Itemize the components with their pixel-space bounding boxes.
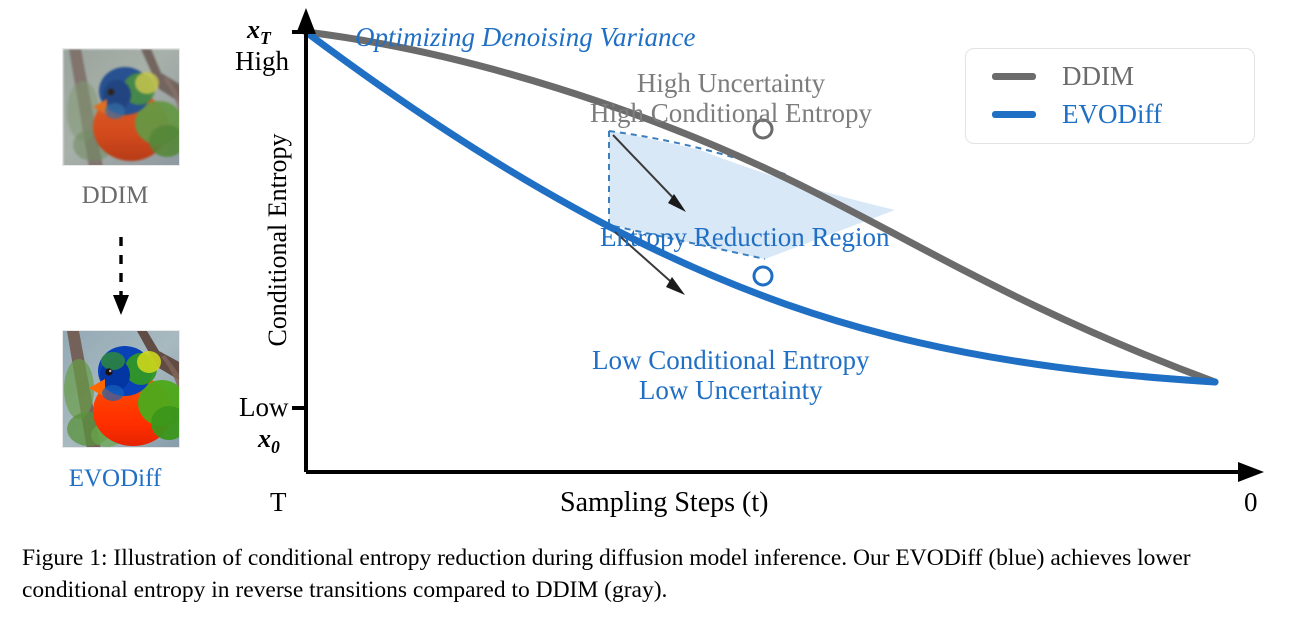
x-axis-arrowhead [1238,462,1264,482]
legend-item-ddim: DDIM [992,61,1134,92]
rainbow-lorikeet-sharp-icon [63,331,180,448]
y-axis-title: Conditional Entropy [263,110,293,370]
high-uncertainty-annotation: High Uncertainty High Conditional Entrop… [590,68,872,128]
entropy-plot: xT High Low x0 Conditional Entropy T 0 S… [230,0,1294,530]
evodiff-marker-point [754,267,772,285]
x-axis-right-tick-label: 0 [1244,487,1258,518]
legend-label-evodiff: EVODiff [1062,99,1162,130]
ddim-image-label: DDIM [0,182,230,210]
y-axis-top-symbol: xT [247,15,271,49]
y-axis-high-tick-label: High [235,46,289,77]
x-axis-left-tick-label: T [270,487,287,518]
legend-item-evodiff: EVODiff [992,99,1162,130]
high-uncertainty-line2: High Conditional Entropy [590,98,872,128]
legend-label-ddim: DDIM [1062,61,1134,92]
y-axis-bottom-symbol: x0 [258,424,280,458]
sample-images-panel: DDIM [0,0,230,530]
figure-root: DDIM [0,0,1294,644]
low-uncertainty-line1: Low Conditional Entropy [592,345,869,375]
ddim-sample-image [62,48,180,166]
low-uncertainty-line2: Low Uncertainty [592,375,869,405]
rainbow-lorikeet-blurry-icon [63,49,180,166]
figure-caption: Figure 1: Illustration of conditional en… [22,542,1276,607]
plot-annotation-title: Optimizing Denoising Variance [355,22,695,53]
plot-legend: DDIM EVODiff [965,48,1255,144]
high-uncertainty-line1: High Uncertainty [590,68,872,98]
evodiff-image-label: EVODiff [0,465,230,493]
legend-swatch-evodiff [992,111,1036,118]
legend-swatch-ddim [992,73,1036,80]
entropy-reduction-region-label: Entropy Reduction Region [600,222,889,253]
y-axis-low-tick-label: Low [239,392,289,423]
evodiff-sample-image [62,330,180,448]
down-dashed-arrow-icon [95,235,147,320]
x-axis-title: Sampling Steps (t) [560,487,768,519]
low-uncertainty-annotation: Low Conditional Entropy Low Uncertainty [592,345,869,405]
